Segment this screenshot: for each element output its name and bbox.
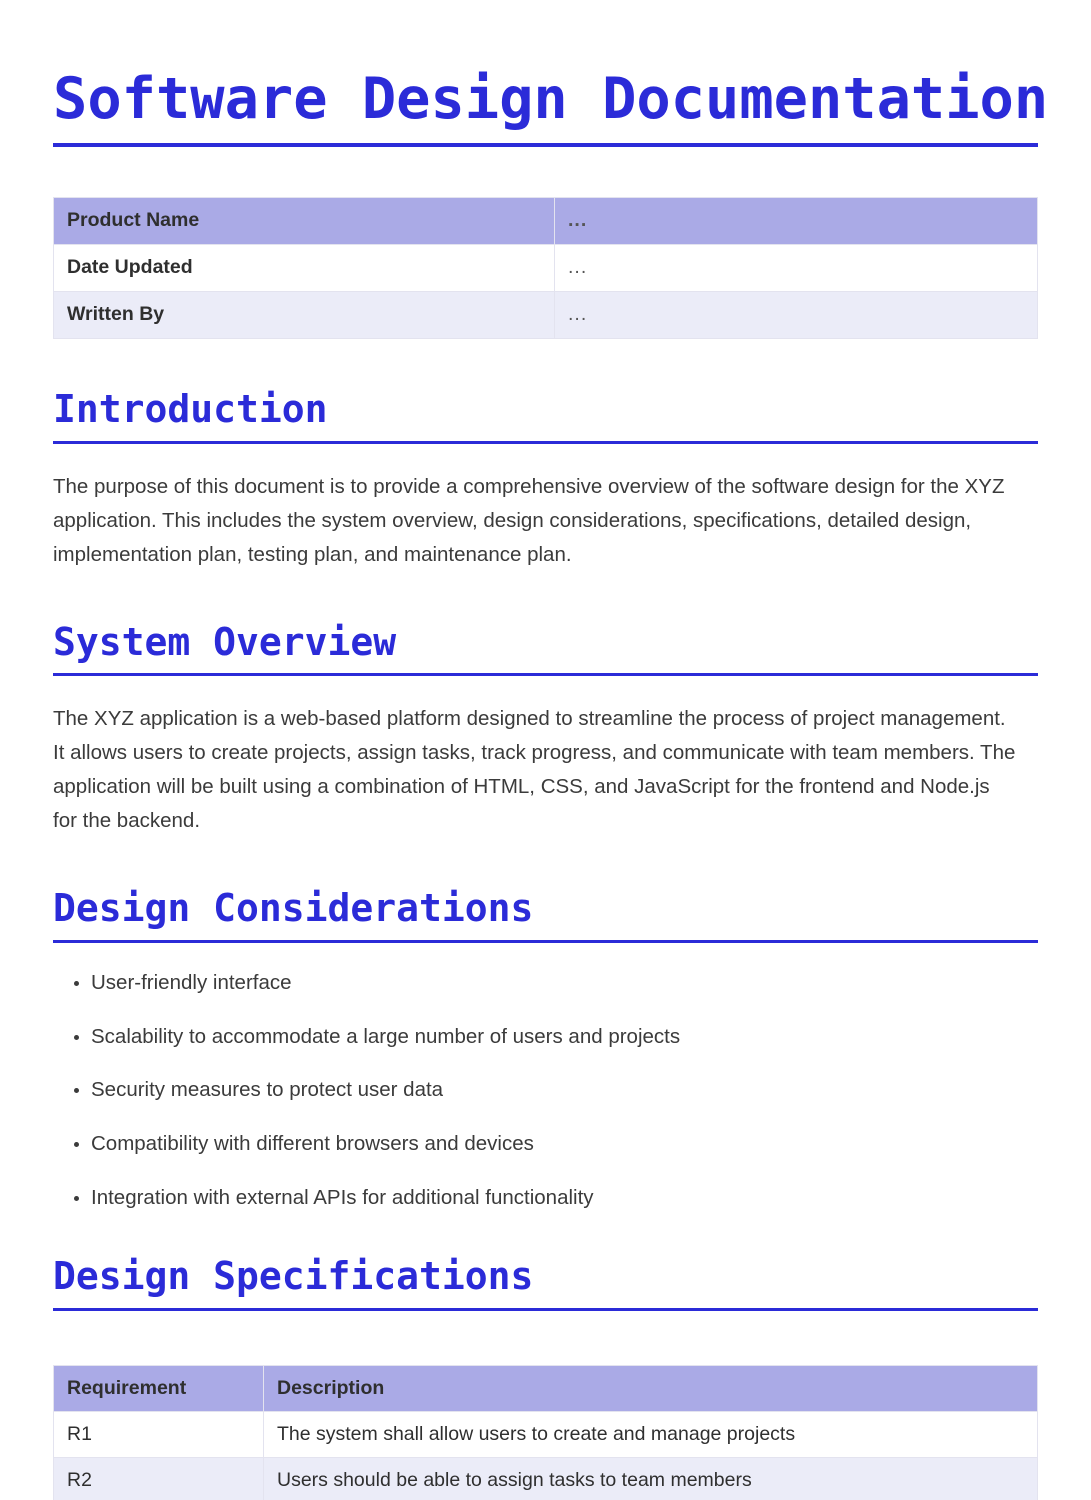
section-heading-design-specifications: Design Specifications — [53, 1256, 1038, 1298]
introduction-paragraph: The purpose of this document is to provi… — [53, 470, 1018, 572]
title-divider — [53, 143, 1038, 147]
meta-label-product-name: Product Name — [54, 197, 555, 244]
list-item: Compatibility with different browsers an… — [53, 1132, 1038, 1157]
requirement-description: The system shall allow users to create a… — [264, 1412, 1038, 1458]
table-header-row: Requirement Description — [54, 1366, 1038, 1412]
page-title: Software Design Documentation — [53, 0, 1038, 130]
bullet-icon — [74, 1142, 79, 1147]
heading-divider — [53, 1308, 1038, 1311]
list-item-label: Compatibility with different browsers an… — [91, 1132, 534, 1155]
bullet-icon — [74, 981, 79, 986]
requirement-id: R1 — [54, 1412, 264, 1458]
heading-divider — [53, 673, 1038, 676]
table-row: R1 The system shall allow users to creat… — [54, 1412, 1038, 1458]
column-header-description: Description — [264, 1366, 1038, 1412]
section-design-considerations: Design Considerations User-friendly inte… — [53, 888, 1038, 1210]
list-item-label: Scalability to accommodate a large numbe… — [91, 1025, 680, 1048]
table-row: Product Name ... — [54, 197, 1038, 244]
list-item: Integration with external APIs for addit… — [53, 1186, 1038, 1211]
design-considerations-list: User-friendly interface Scalability to a… — [53, 971, 1038, 1210]
bullet-icon — [74, 1088, 79, 1093]
meta-value-date-updated[interactable]: ... — [555, 244, 1038, 291]
section-heading-system-overview: System Overview — [53, 622, 1038, 664]
design-specifications-table: Requirement Description R1 The system sh… — [53, 1365, 1038, 1500]
meta-value-written-by[interactable]: ... — [555, 291, 1038, 338]
system-overview-paragraph: The XYZ application is a web-based platf… — [53, 702, 1018, 838]
list-item-label: Integration with external APIs for addit… — [91, 1186, 594, 1209]
table-row: R2 Users should be able to assign tasks … — [54, 1458, 1038, 1500]
document-metadata-table: Product Name ... Date Updated ... Writte… — [53, 197, 1038, 339]
column-header-requirement: Requirement — [54, 1366, 264, 1412]
bullet-icon — [74, 1196, 79, 1201]
list-item-label: Security measures to protect user data — [91, 1078, 443, 1101]
list-item: Security measures to protect user data — [53, 1078, 1038, 1103]
section-heading-introduction: Introduction — [53, 389, 1038, 431]
table-row: Date Updated ... — [54, 244, 1038, 291]
meta-label-date-updated: Date Updated — [54, 244, 555, 291]
list-item: Scalability to accommodate a large numbe… — [53, 1025, 1038, 1050]
section-heading-design-considerations: Design Considerations — [53, 888, 1038, 930]
heading-divider — [53, 940, 1038, 943]
table-row: Written By ... — [54, 291, 1038, 338]
document-page: Software Design Documentation Product Na… — [0, 0, 1091, 1500]
section-design-specifications: Design Specifications Requirement Descri… — [53, 1256, 1038, 1500]
section-introduction: Introduction The purpose of this documen… — [53, 389, 1038, 572]
requirement-description: Users should be able to assign tasks to … — [264, 1458, 1038, 1500]
meta-label-written-by: Written By — [54, 291, 555, 338]
list-item: User-friendly interface — [53, 971, 1038, 996]
meta-value-product-name[interactable]: ... — [555, 197, 1038, 244]
heading-divider — [53, 441, 1038, 444]
bullet-icon — [74, 1035, 79, 1040]
requirement-id: R2 — [54, 1458, 264, 1500]
list-item-label: User-friendly interface — [91, 971, 292, 994]
section-system-overview: System Overview The XYZ application is a… — [53, 622, 1038, 839]
